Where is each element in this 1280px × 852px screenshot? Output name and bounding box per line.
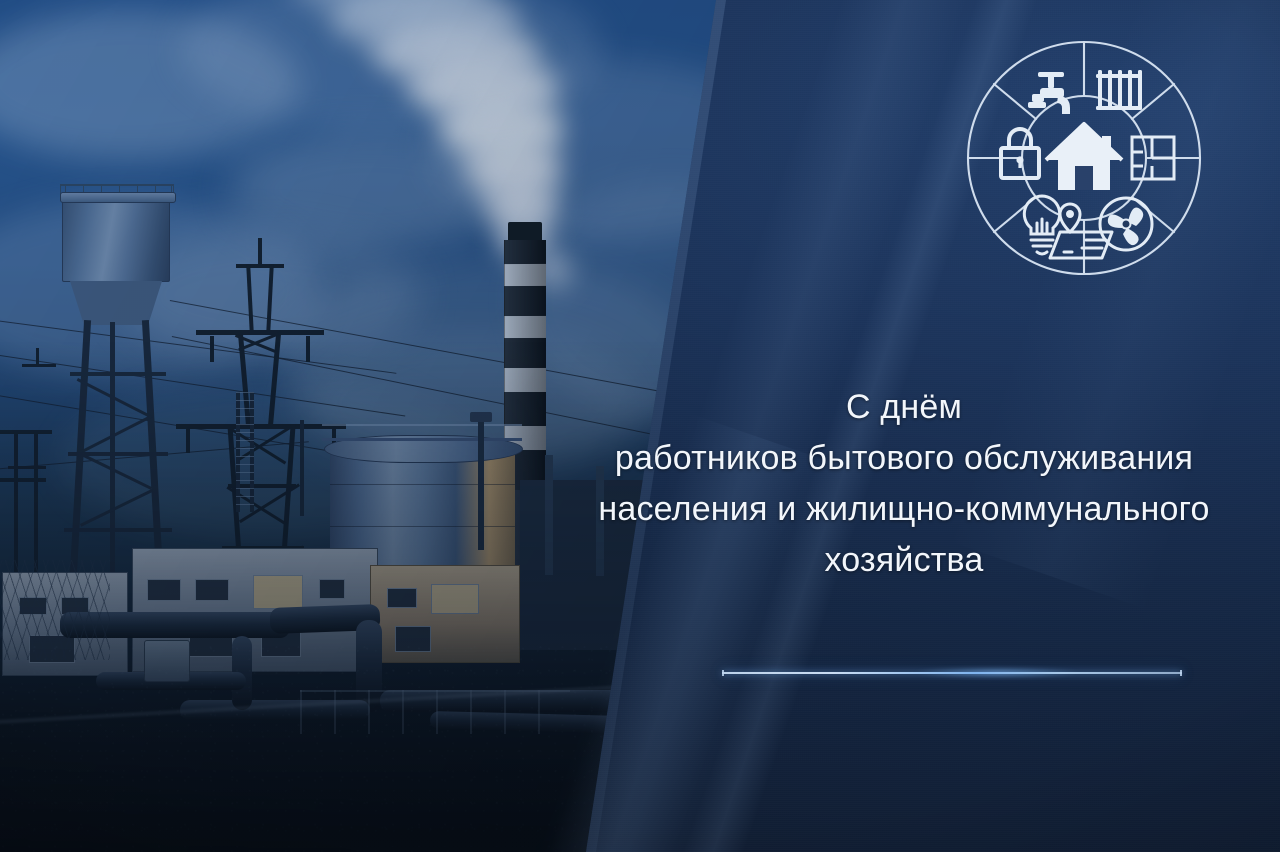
greeting-poster: С днём работников бытового обслуживания … (0, 0, 1280, 852)
map-pin-icon (1050, 190, 1112, 258)
headline-line-1: С днём (528, 382, 1280, 433)
radiator-icon (1096, 70, 1142, 110)
housing-and-utilities-emblem (958, 32, 1210, 284)
house-icon (1046, 124, 1122, 190)
decorative-divider (722, 671, 1182, 674)
floor-plan-icon (1132, 137, 1174, 179)
divider-bar (722, 672, 1182, 674)
headline-line-2: работников бытового обслуживания (528, 433, 1280, 484)
divider-cap-left (722, 670, 724, 676)
headline-line-3: населения и жилищно-коммунального (528, 484, 1280, 535)
divider-cap-right (1180, 670, 1182, 676)
emblem-spoke (994, 84, 1036, 119)
padlock-icon (1001, 129, 1039, 178)
greeting-headline: С днём работников бытового обслуживания … (528, 382, 1280, 586)
headline-line-4: хозяйства (528, 535, 1280, 586)
